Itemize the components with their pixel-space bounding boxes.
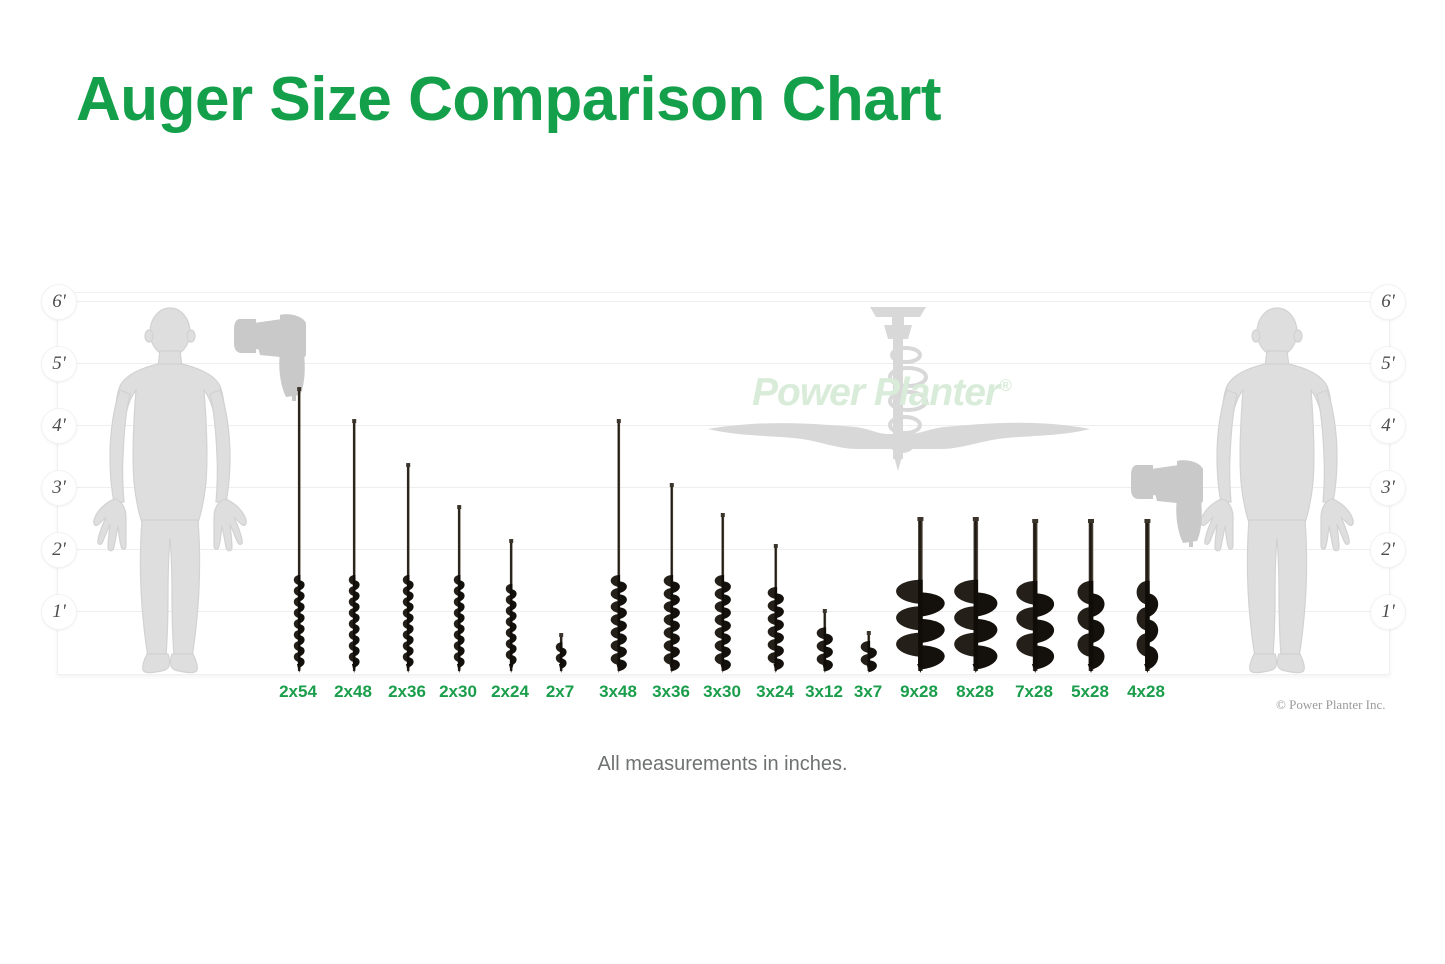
auger-8x28 xyxy=(944,517,1008,678)
auger-label-3x12: 3x12 xyxy=(805,682,843,702)
axis-tick-right-1ft: 1' xyxy=(1370,594,1406,630)
a2_30 xyxy=(449,505,469,673)
auger-3x48 xyxy=(605,419,633,678)
auger-2x30 xyxy=(449,505,469,678)
axis-tick-left-1ft: 1' xyxy=(41,594,77,630)
axis-tick-left-3ft: 3' xyxy=(41,470,77,506)
a3_24 xyxy=(762,544,790,673)
auger-label-3x7: 3x7 xyxy=(854,682,882,702)
a2_24 xyxy=(501,539,521,673)
auger-label-2x36: 2x36 xyxy=(388,682,426,702)
a2_54 xyxy=(289,387,309,673)
axis-tick-right-3ft: 3' xyxy=(1370,470,1406,506)
axis-tick-left-2ft: 2' xyxy=(41,532,77,568)
auger-label-3x24: 3x24 xyxy=(756,682,794,702)
auger-label-2x24: 2x24 xyxy=(491,682,529,702)
auger-2x54 xyxy=(289,387,309,678)
auger-label-2x30: 2x30 xyxy=(439,682,477,702)
auger-3x36 xyxy=(658,483,686,678)
a4_28 xyxy=(1130,519,1165,673)
auger-label-3x30: 3x30 xyxy=(703,682,741,702)
auger-3x12 xyxy=(811,609,839,678)
a2_7 xyxy=(551,633,571,673)
plot-area: 6'5'4'3'2'1' 6'5'4'3'2'1' xyxy=(58,293,1389,674)
a2_48 xyxy=(344,419,364,673)
a3_30 xyxy=(709,513,737,673)
auger-label-5x28: 5x28 xyxy=(1071,682,1109,702)
auger-2x48 xyxy=(344,419,364,678)
auger-label-2x48: 2x48 xyxy=(334,682,372,702)
axis-tick-left-5ft: 5' xyxy=(41,346,77,382)
watermark-brand: Power Planter xyxy=(752,371,999,414)
chart-panel: 6'5'4'3'2'1' 6'5'4'3'2'1' xyxy=(57,292,1390,675)
auger-label-2x7: 2x7 xyxy=(546,682,574,702)
auger-label-3x48: 3x48 xyxy=(599,682,637,702)
auger-label-3x36: 3x36 xyxy=(652,682,690,702)
auger-label-8x28: 8x28 xyxy=(956,682,994,702)
a2_36 xyxy=(398,463,418,673)
auger-3x30 xyxy=(709,513,737,678)
a8_28 xyxy=(944,517,1008,673)
auger-2x7 xyxy=(551,633,571,678)
copyright-notice: © Power Planter Inc. xyxy=(1276,697,1386,713)
auger-label-7x28: 7x28 xyxy=(1015,682,1053,702)
auger-2x36 xyxy=(398,463,418,678)
watermark: Power Planter® xyxy=(698,293,1098,473)
auger-5x28 xyxy=(1070,519,1112,678)
footnote: All measurements in inches. xyxy=(0,753,1445,776)
registered-mark: ® xyxy=(999,376,1011,395)
a3_12 xyxy=(811,609,839,673)
auger-label-4x28: 4x28 xyxy=(1127,682,1165,702)
axis-tick-right-4ft: 4' xyxy=(1370,408,1406,444)
a7_28 xyxy=(1007,519,1063,673)
auger-4x28 xyxy=(1130,519,1165,678)
auger-3x7 xyxy=(855,631,883,678)
auger-label-2x54: 2x54 xyxy=(279,682,317,702)
a3_48 xyxy=(605,419,633,673)
axis-tick-left-6ft: 6' xyxy=(41,284,77,320)
axis-tick-right-2ft: 2' xyxy=(1370,532,1406,568)
a5_28 xyxy=(1070,519,1112,673)
auger-3x24 xyxy=(762,544,790,678)
auger-labels-row: 2x542x482x362x302x242x73x483x363x303x243… xyxy=(57,682,1388,706)
axis-tick-right-6ft: 6' xyxy=(1370,284,1406,320)
auger-7x28 xyxy=(1007,519,1063,678)
gridline-6ft xyxy=(58,301,1389,302)
a3_7 xyxy=(855,631,883,673)
gridline-4ft xyxy=(58,425,1389,426)
human-silhouette-left xyxy=(90,306,250,674)
page-title: Auger Size Comparison Chart xyxy=(76,64,941,135)
power-planter-auger-logo xyxy=(698,293,1098,473)
axis-tick-left-4ft: 4' xyxy=(41,408,77,444)
human-silhouette-right xyxy=(1197,306,1357,674)
watermark-text: Power Planter® xyxy=(752,371,1011,415)
auger-2x24 xyxy=(501,539,521,678)
axis-tick-right-5ft: 5' xyxy=(1370,346,1406,382)
auger-label-9x28: 9x28 xyxy=(900,682,938,702)
a3_36 xyxy=(658,483,686,673)
